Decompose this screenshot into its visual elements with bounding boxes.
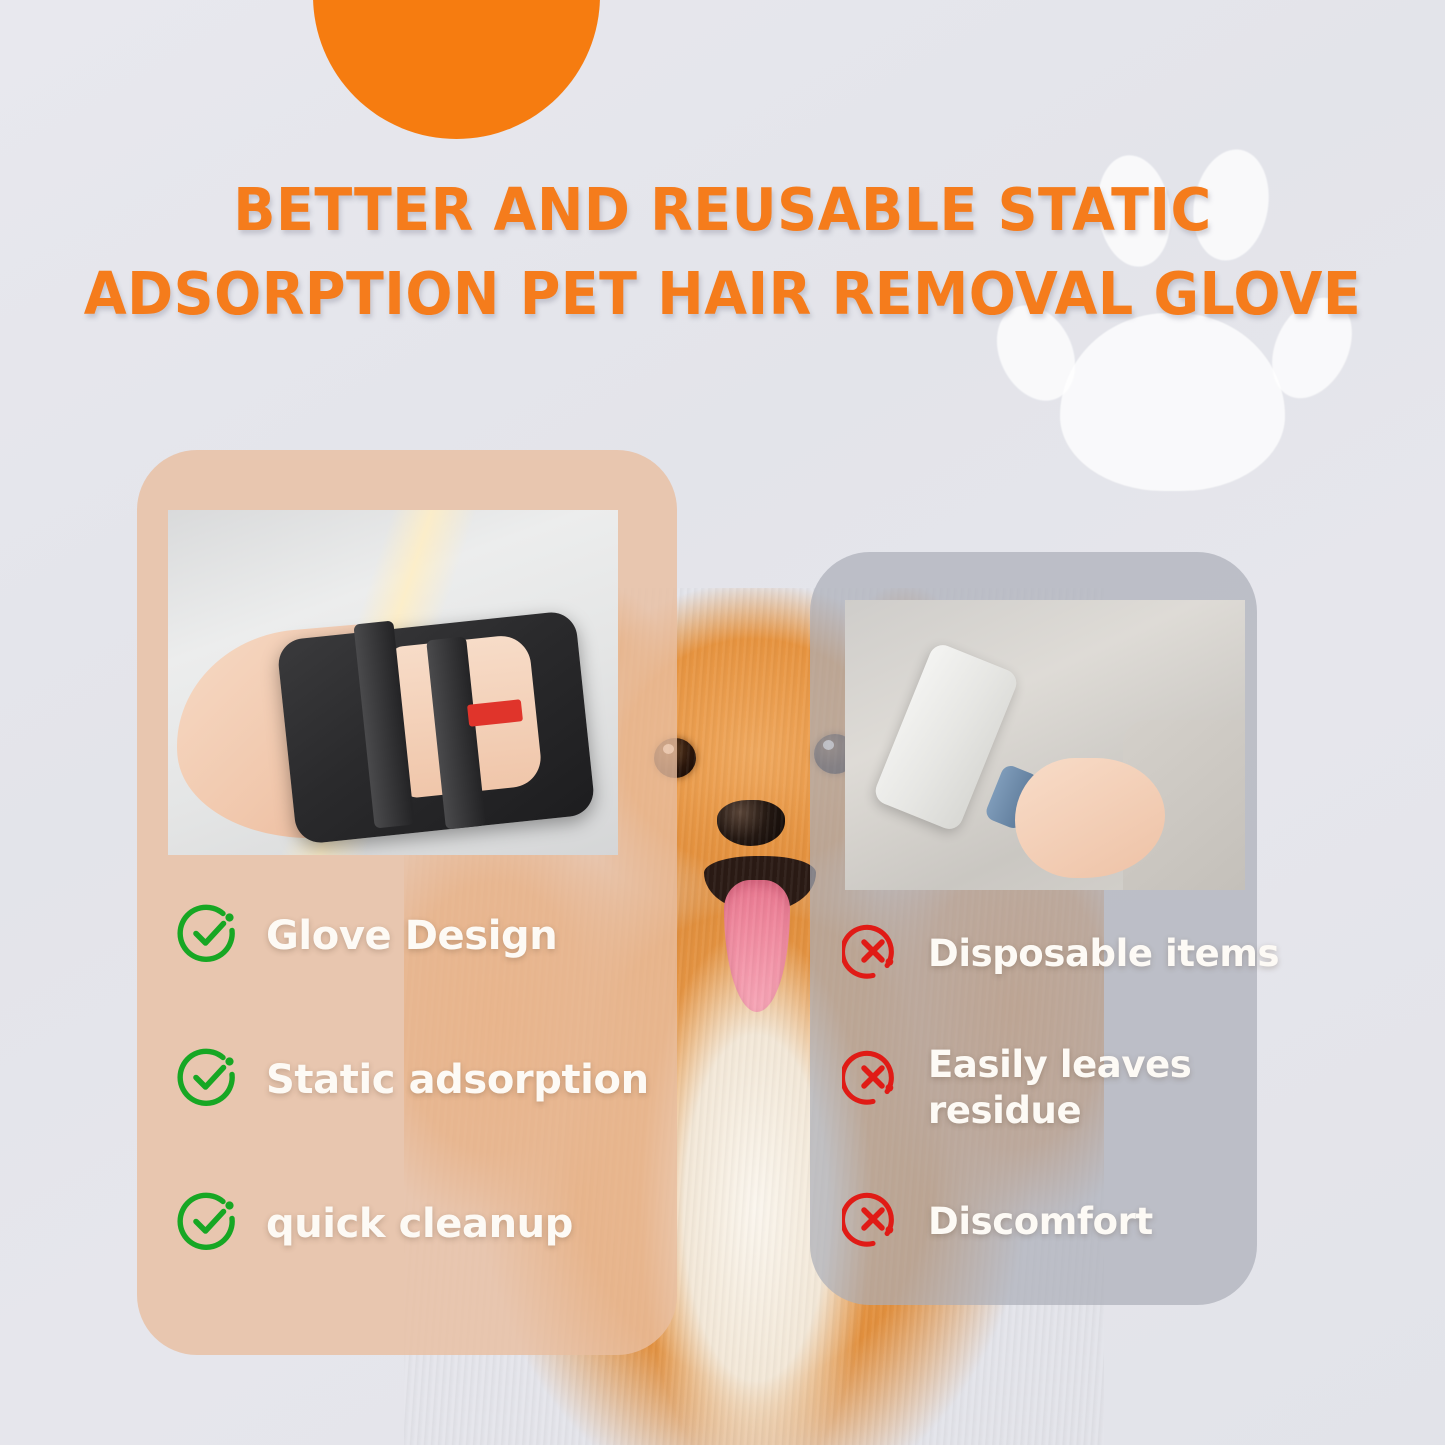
- con-feature-item: Easily leaves residue: [842, 1046, 1191, 1134]
- check-circle-icon: [176, 1188, 242, 1259]
- con-feature-label: Easily leaves residue: [928, 1042, 1191, 1134]
- check-circle-icon: [176, 1044, 242, 1115]
- pro-feature-item: Static adsorption: [176, 1044, 649, 1115]
- con-feature-label: Disposable items: [928, 931, 1279, 977]
- con-feature-item: Disposable items: [842, 920, 1279, 987]
- cross-circle-icon: [842, 1046, 904, 1113]
- pro-feature-label: Static adsorption: [266, 1056, 649, 1104]
- pro-feature-item: Glove Design: [176, 900, 557, 971]
- glove-product-photo: [168, 510, 618, 855]
- orange-semicircle-decor: [313, 0, 600, 139]
- page-title: BETTER AND REUSABLE STATIC ADSORPTION PE…: [43, 168, 1401, 336]
- check-circle-icon: [176, 900, 242, 971]
- cross-circle-icon: [842, 920, 904, 987]
- con-feature-label: Discomfort: [928, 1199, 1153, 1245]
- lint-roller-product-photo: [845, 600, 1245, 890]
- pro-feature-item: quick cleanup: [176, 1188, 573, 1259]
- pro-feature-label: Glove Design: [266, 912, 557, 960]
- promo-image-canvas: BETTER AND REUSABLE STATIC ADSORPTION PE…: [0, 0, 1445, 1445]
- cross-circle-icon: [842, 1188, 904, 1255]
- pro-feature-label: quick cleanup: [266, 1200, 573, 1248]
- con-feature-item: Discomfort: [842, 1188, 1153, 1255]
